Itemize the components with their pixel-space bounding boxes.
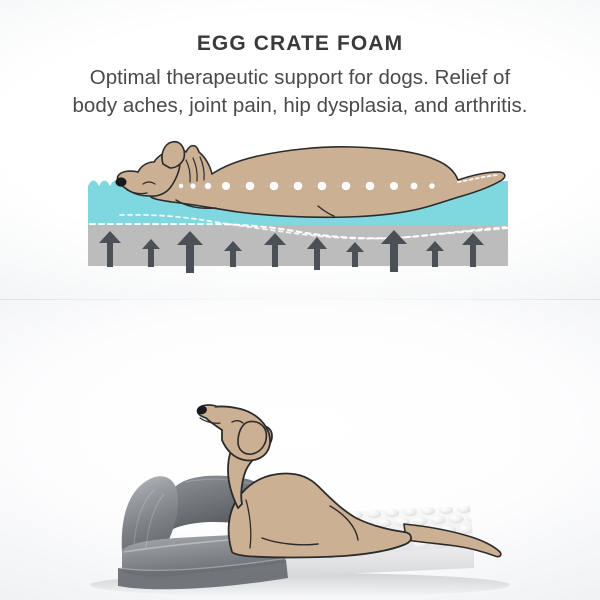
dog-illustration	[196, 404, 501, 557]
panel-egg-crate-foam: EGG CRATE FOAM Optimal therapeutic suppo…	[0, 0, 600, 300]
dog-nose	[116, 177, 127, 186]
illustration-dog-on-bolster-bed	[0, 300, 600, 600]
illustration-dog-on-foam-cross-section	[0, 0, 600, 300]
panel-increased-airflow: INCREASED AIRFLOW	[0, 300, 600, 600]
infographic-root: EGG CRATE FOAM Optimal therapeutic suppo…	[0, 0, 600, 600]
